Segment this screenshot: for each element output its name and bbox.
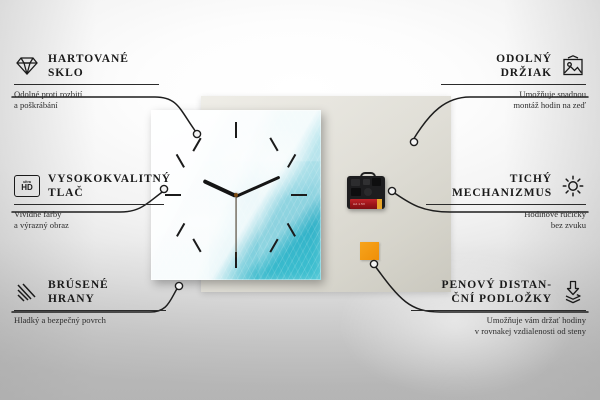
mechanism-detail <box>372 178 381 186</box>
feature-title: PENOVÝ DISTAN-ČNÍ PODLOŽKY <box>442 278 552 306</box>
feature-header: ultra HD VYSOKOKVALITNÝTLAČ <box>14 172 164 200</box>
feature-title: ODOLNÝDRŽIAK <box>496 52 552 80</box>
feature-description: Hodinové ručičkybez zvuku <box>426 209 586 232</box>
feature-silent-mechanism: TICHÝMECHANIZMUS Hodinové ručičkybez zvu… <box>426 172 586 232</box>
divider <box>411 310 586 311</box>
divider <box>14 204 164 205</box>
feature-description: Vivídne farbya výrazný obraz <box>14 209 164 232</box>
feature-header: HARTOVANÉSKLO <box>14 52 159 80</box>
divider <box>441 84 586 85</box>
feature-header: BRÚSENÉHRANY <box>14 278 166 306</box>
mechanism-body: AA 1.5V <box>347 176 385 209</box>
clock-center-pin <box>234 193 238 197</box>
feature-title: HARTOVANÉSKLO <box>48 52 129 80</box>
feature-description: Umožňuje vám držať hodinyv rovnakej vzdi… <box>411 315 586 338</box>
feature-title: BRÚSENÉHRANY <box>48 278 109 306</box>
diamond-icon <box>14 54 40 78</box>
ultra-hd-main-text: HD <box>21 184 33 192</box>
mechanism-detail <box>364 188 372 196</box>
battery-label: AA 1.5V <box>353 202 365 206</box>
product-infographic: AA 1.5V <box>0 0 600 400</box>
ground-edges-icon <box>14 280 40 304</box>
feature-high-quality-print: ultra HD VYSOKOKVALITNÝTLAČ Vivídne farb… <box>14 172 164 232</box>
mechanism-battery: AA 1.5V <box>350 199 382 209</box>
feature-title: VYSOKOKVALITNÝTLAČ <box>48 172 171 200</box>
feature-description: Hladký a bezpečný povrch <box>14 315 166 326</box>
ultra-hd-icon: ultra HD <box>14 174 40 198</box>
clock-tick <box>291 194 307 196</box>
feature-header: ODOLNÝDRŽIAK <box>441 52 586 80</box>
gear-icon <box>560 174 586 198</box>
feature-description: Odolné proti rozbitía poškrábání <box>14 89 159 112</box>
foam-spacer-icon <box>560 280 586 304</box>
feature-tempered-glass: HARTOVANÉSKLO Odolné proti rozbitía pošk… <box>14 52 159 112</box>
feature-foam-spacers: PENOVÝ DISTAN-ČNÍ PODLOŽKY Umožňuje vám … <box>411 278 586 338</box>
divider <box>14 84 159 85</box>
foam-spacer-pad <box>360 242 379 260</box>
mechanism-detail <box>363 179 370 185</box>
battery-positive-cap <box>377 199 382 209</box>
clock-tick <box>235 122 237 138</box>
clock-second-hand <box>235 196 236 258</box>
mechanism-detail <box>351 179 360 186</box>
ultra-hd-badge: ultra HD <box>14 175 40 197</box>
mechanism-detail <box>351 188 361 196</box>
picture-hanger-icon <box>560 54 586 78</box>
feature-title: TICHÝMECHANIZMUS <box>452 172 552 200</box>
wall-clock-product <box>151 110 321 280</box>
feature-header: PENOVÝ DISTAN-ČNÍ PODLOŽKY <box>411 278 586 306</box>
feature-durable-hanger: ODOLNÝDRŽIAK Umožňuje snadnoumontáž hodi… <box>441 52 586 112</box>
feature-description: Umožňuje snadnoumontáž hodin na zeď <box>441 89 586 112</box>
divider <box>426 204 586 205</box>
feature-header: TICHÝMECHANIZMUS <box>426 172 586 200</box>
feature-ground-edges: BRÚSENÉHRANY Hladký a bezpečný povrch <box>14 278 166 326</box>
clock-mechanism: AA 1.5V <box>347 172 385 209</box>
divider <box>14 310 166 311</box>
